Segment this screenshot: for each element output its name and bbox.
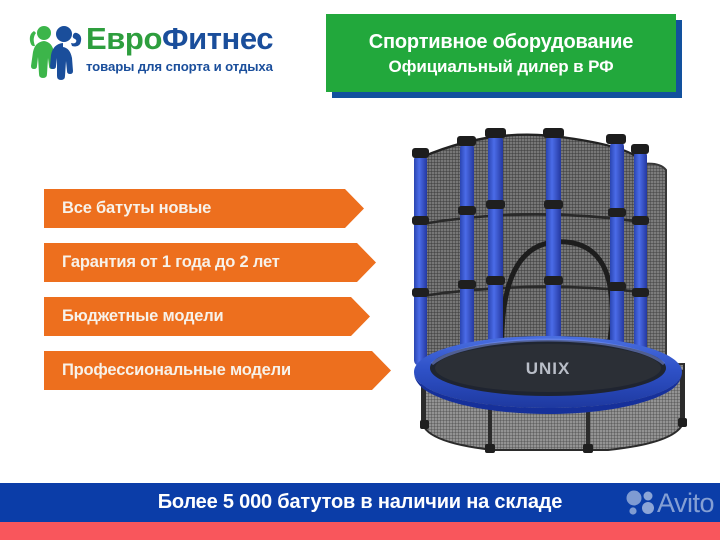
footer-accent-strip: [0, 522, 720, 540]
product-image-trampoline[interactable]: UNIX UNIX: [398, 120, 708, 470]
feature-label: Все батуты новые: [62, 199, 211, 218]
feature-label: Гарантия от 1 года до 2 лет: [62, 253, 280, 272]
logo-name: ЕвроФитнес: [86, 20, 324, 58]
athlete-silhouettes-icon: [24, 22, 86, 80]
brand-logo[interactable]: ЕвроФитнес товары для спорта и отдыха: [24, 20, 324, 90]
feature-arrow-2[interactable]: Гарантия от 1 года до 2 лет: [44, 243, 376, 282]
footer-bar: Более 5 000 батутов в наличии на складе: [0, 483, 720, 522]
logo-name-part-1: Евро: [86, 21, 162, 56]
feature-list: Все батуты новыеГарантия от 1 года до 2 …: [44, 189, 391, 405]
header-banner-line-2: Официальный дилер в РФ: [388, 55, 613, 78]
avito-logo-icon: [625, 490, 655, 516]
feature-label: Бюджетные модели: [62, 307, 223, 326]
svg-text:UNIX: UNIX: [526, 359, 571, 378]
footer-headline: Более 5 000 батутов в наличии на складе: [158, 491, 562, 514]
promo-banner: ЕвроФитнес товары для спорта и отдыха Сп…: [0, 0, 720, 540]
feature-arrow-1[interactable]: Все батуты новые: [44, 189, 364, 228]
logo-name-part-2: Фитнес: [162, 21, 273, 56]
feature-arrow-3[interactable]: Бюджетные модели: [44, 297, 370, 336]
logo-tagline: товары для спорта и отдыха: [86, 59, 324, 75]
avito-wordmark: Avito: [657, 488, 714, 518]
header-banner-line-1: Спортивное оборудование: [369, 29, 633, 55]
header-banner-face: Спортивное оборудование Официальный диле…: [326, 14, 676, 92]
avito-watermark: Avito: [625, 486, 714, 520]
feature-label: Профессиональные модели: [62, 361, 291, 380]
header-banner: Спортивное оборудование Официальный диле…: [326, 14, 682, 98]
feature-arrow-4[interactable]: Профессиональные модели: [44, 351, 391, 390]
logo-wordmark: ЕвроФитнес товары для спорта и отдыха: [86, 20, 324, 82]
